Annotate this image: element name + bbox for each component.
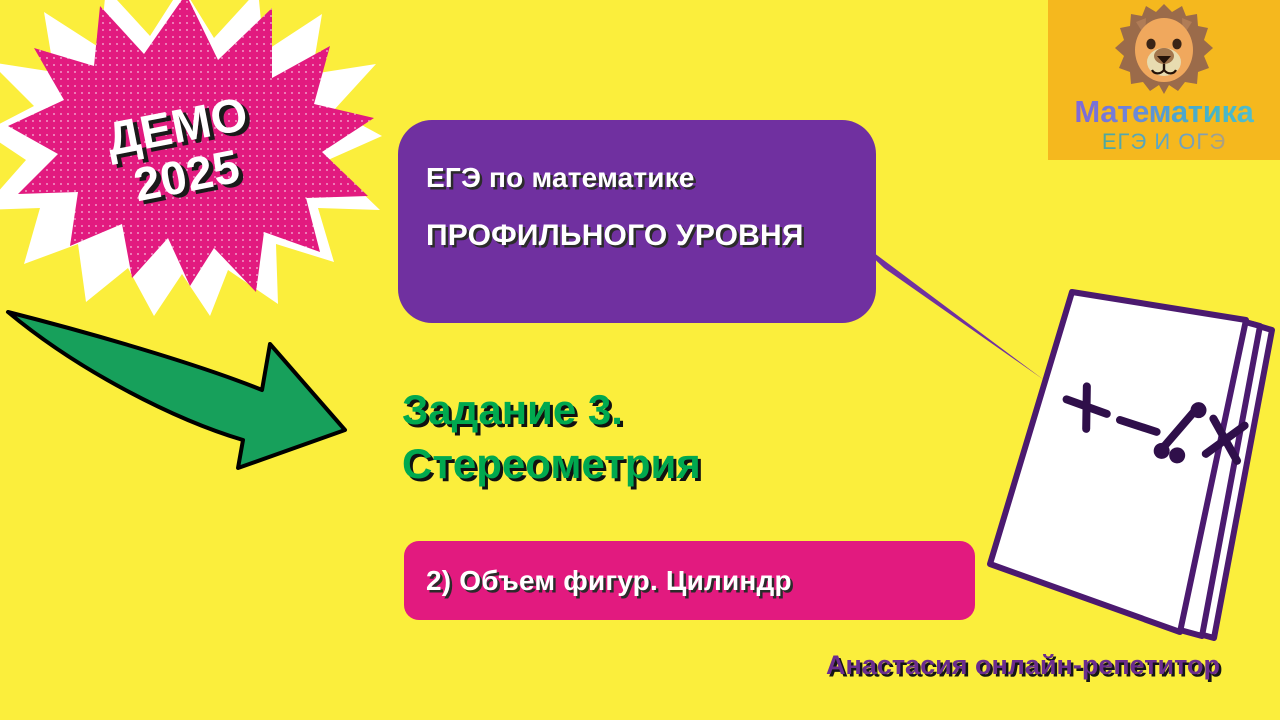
bubble-line-1: ЕГЭ по математике <box>426 164 876 192</box>
green-arrow-icon <box>0 300 380 510</box>
starburst-shape <box>0 0 382 316</box>
heading-line-1: Задание 3. <box>402 383 962 437</box>
author-signature: Анастасия онлайн-репетитор <box>826 650 1220 681</box>
channel-logo: Математика ЕГЭ И ОГЭ <box>1048 0 1280 160</box>
logo-title: Математика <box>1048 96 1280 127</box>
demo-starburst-badge: ДЕМО 2025 <box>0 0 382 316</box>
logo-subtitle: ЕГЭ И ОГЭ <box>1048 131 1280 153</box>
math-notebook-icon <box>960 280 1280 660</box>
page-title: Задание 3. Стереометрия <box>402 383 962 491</box>
lion-icon <box>1112 2 1216 94</box>
subtitle-bar-label: 2) Объем фигур. Цилиндр <box>426 565 792 597</box>
speech-bubble: ЕГЭ по математике ПРОФИЛЬНОГО УРОВНЯ <box>398 120 876 323</box>
bubble-line-2: ПРОФИЛЬНОГО УРОВНЯ <box>426 221 876 251</box>
slide-canvas: ДЕМО 2025 ЕГЭ по математике ПРОФИЛЬНОГО … <box>0 0 1280 720</box>
subtitle-bar: 2) Объем фигур. Цилиндр <box>404 541 975 620</box>
heading-line-2: Стереометрия <box>402 437 962 491</box>
